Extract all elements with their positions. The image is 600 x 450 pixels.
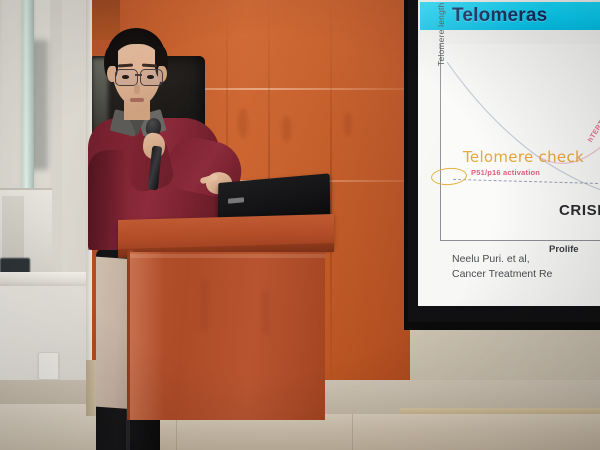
- slide-title: Telomeras: [452, 5, 547, 27]
- checkpoint-ellipse-marker: [430, 167, 467, 186]
- chart-diagonal-label-1: hTERT: [587, 120, 600, 144]
- wood-vertical-seam-3: [330, 0, 332, 418]
- eyeglasses-bridge: [135, 74, 142, 76]
- speaker-eye-right: [147, 75, 154, 79]
- podium-grain-1: [200, 280, 208, 330]
- wood-grain-2: [282, 116, 291, 142]
- chart-y-axis-label: Telomere length: [436, 3, 446, 66]
- wood-grain-3: [344, 112, 352, 136]
- speaker-mouth: [130, 98, 144, 102]
- speaker-eye-left: [122, 75, 129, 79]
- floor-left-area: [0, 404, 96, 450]
- chart-checkpoint-label: Telomere check: [463, 148, 584, 166]
- podium-band: [130, 254, 325, 258]
- projected-slide: Telomeras Telomere length Prolife Telome…: [418, 0, 600, 306]
- podium-grain-2: [262, 290, 269, 334]
- chart-activation-label: P51/p16 activation: [471, 168, 540, 177]
- slide-citation: Neelu Puri. et al, Cancer Treatment Re: [452, 252, 552, 282]
- checkpoint-dashed-line: [453, 179, 600, 184]
- floor-seam-2: [352, 414, 353, 450]
- wall-light-switch[interactable]: [38, 352, 59, 380]
- chart-x-axis-label: Prolife: [549, 244, 579, 255]
- slide-title-bar: Telomeras: [420, 2, 600, 30]
- speaker-nose: [134, 84, 140, 94]
- presentation-photo: Telomeras Telomere length Prolife Telome…: [0, 0, 600, 450]
- podium-body-highlight: [130, 252, 164, 420]
- citation-line-2: Cancer Treatment Re: [452, 267, 552, 282]
- slide-chart: Telomere length Prolife Telomere check P…: [440, 44, 600, 241]
- chart-crisis-label: CRISIS: [559, 202, 600, 219]
- citation-line-1: Neelu Puri. et al,: [452, 252, 552, 267]
- wood-grain-1: [238, 108, 248, 138]
